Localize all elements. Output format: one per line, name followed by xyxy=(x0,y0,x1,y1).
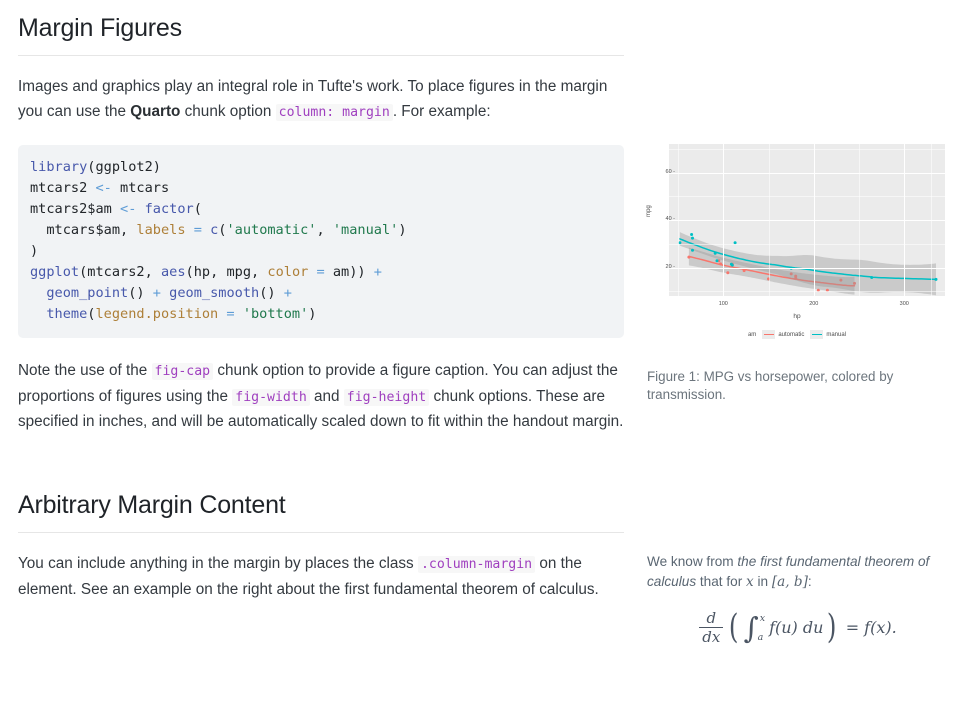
mn-var-x: x xyxy=(746,574,754,590)
y-axis-label: mpg xyxy=(646,205,652,217)
section-arbitrary-margin-content: Arbitrary Margin Content xyxy=(18,490,624,533)
heading-rule-2 xyxy=(18,532,624,533)
code-token: mtcars$am, xyxy=(30,222,136,238)
right-paren-icon: ) xyxy=(827,614,837,641)
note-text-1: Note the use of the xyxy=(18,362,152,379)
code-token: 'automatic' xyxy=(226,222,316,238)
code-token: )) xyxy=(349,264,365,280)
code-token: ( xyxy=(186,264,194,280)
gridline-major-y xyxy=(669,268,945,269)
code-token xyxy=(30,306,46,322)
inline-code-fig-height: fig-height xyxy=(344,389,429,406)
plot-panel xyxy=(669,144,945,296)
code-token: mtcars xyxy=(112,180,169,196)
code-token xyxy=(30,285,46,301)
inline-code-fig-cap: fig-cap xyxy=(152,363,214,380)
derivative-fraction: d dx xyxy=(699,610,723,645)
data-point xyxy=(870,276,873,279)
code-token: mtcars2 xyxy=(30,180,95,196)
code-token: 'manual' xyxy=(333,222,398,238)
note-paragraph: Note the use of the fig-cap chunk option… xyxy=(18,359,624,435)
gridline-major-y xyxy=(669,220,945,221)
data-point xyxy=(714,252,717,255)
equation-ftc: d dx ( ∫ x a f(u) du ) = f(x). xyxy=(647,608,947,645)
gridline-minor-y xyxy=(669,149,945,150)
code-token: = xyxy=(218,306,243,322)
code-token: ( xyxy=(194,201,202,217)
mn-text-3: in xyxy=(754,574,772,589)
legend-title: am xyxy=(748,332,756,338)
integral-lower-limit: a xyxy=(756,632,765,643)
heading-rule xyxy=(18,55,624,56)
section-margin-figures: Margin Figures xyxy=(18,0,624,56)
data-point xyxy=(719,262,722,265)
gridline-major-y xyxy=(669,173,945,174)
code-token: + xyxy=(276,285,292,301)
code-token: geom_smooth xyxy=(169,285,259,301)
code-token: labels xyxy=(136,222,185,238)
page-title-2: Arbitrary Margin Content xyxy=(18,490,624,521)
integrand: f(u) du xyxy=(769,618,823,637)
mn-interval: [a, b] xyxy=(772,574,808,590)
code-token: = xyxy=(186,222,211,238)
data-point xyxy=(726,271,729,274)
data-point xyxy=(691,249,694,252)
integral-upper-limit: x xyxy=(760,613,765,624)
x-tick-label: 300 xyxy=(900,301,909,307)
data-point xyxy=(731,264,734,267)
inline-code-column-margin: column: margin xyxy=(276,104,393,121)
code-token: <- xyxy=(120,201,136,217)
legend-key-automatic-icon xyxy=(762,330,775,339)
code-token: + xyxy=(366,264,382,280)
code-token: am xyxy=(333,264,349,280)
legend-item-manual: manual xyxy=(810,330,846,339)
note-text-3: and xyxy=(310,388,344,405)
integral-group: ∫ x a xyxy=(744,613,768,643)
inline-code-column-margin-class: .column-margin xyxy=(418,556,535,573)
code-token: ) xyxy=(30,243,38,259)
intro-text-2: chunk option xyxy=(180,103,275,120)
figure-caption: Figure 1: MPG vs horsepower, colored by … xyxy=(647,368,947,404)
margin-figure-1: mpg hp 20 -40 -60 - 100200300 am automat… xyxy=(647,0,947,404)
code-token: ) xyxy=(308,306,316,322)
data-point xyxy=(935,278,938,281)
code-token: legend.position xyxy=(95,306,218,322)
margin-note-text: We know from the first fundamental theor… xyxy=(647,552,947,592)
legend-label-automatic: automatic xyxy=(778,332,804,338)
gridline-minor-y xyxy=(669,244,945,245)
body-column: Margin Figures Images and graphics play … xyxy=(18,0,624,602)
arbitrary-paragraph: You can include anything in the margin b… xyxy=(18,552,624,602)
y-tick-label: 60 - xyxy=(666,169,675,175)
data-point xyxy=(691,237,694,240)
mn-text-2: that for xyxy=(696,574,746,589)
y-tick-label: 40 - xyxy=(666,216,675,222)
arb-text-1: You can include anything in the margin b… xyxy=(18,555,418,572)
data-point xyxy=(743,269,746,272)
code-token: = xyxy=(308,264,333,280)
code-block-r: library(ggplot2) mtcars2 <- mtcars mtcar… xyxy=(18,145,624,338)
x-tick-label: 200 xyxy=(809,301,818,307)
code-token: mtcars2$am xyxy=(30,201,120,217)
data-point xyxy=(690,233,693,236)
mn-text-4: : xyxy=(808,574,812,589)
legend-key-manual-icon xyxy=(810,330,823,339)
code-token: ) xyxy=(153,159,161,175)
legend-label-manual: manual xyxy=(826,332,846,338)
page-title: Margin Figures xyxy=(18,13,624,44)
x-tick-label: 100 xyxy=(719,301,728,307)
code-token xyxy=(136,201,144,217)
data-point xyxy=(687,256,690,259)
code-token: 'bottom' xyxy=(243,306,308,322)
fraction-numerator: d xyxy=(704,610,720,627)
intro-text-3: . For example: xyxy=(393,103,491,120)
ggplot-mpg-vs-hp: mpg hp 20 -40 -60 - 100200300 am automat… xyxy=(647,140,947,355)
quarto-bold: Quarto xyxy=(130,103,180,120)
mn-text-1: We know from xyxy=(647,554,737,569)
plot-legend: am automatic manual xyxy=(647,330,947,339)
code-token: () xyxy=(128,285,144,301)
x-axis-label: hp xyxy=(647,313,947,320)
code-token: factor xyxy=(145,201,194,217)
code-token: hp, mpg, xyxy=(194,264,268,280)
code-token: ggplot xyxy=(30,264,79,280)
legend-item-automatic: automatic xyxy=(762,330,804,339)
code-token: theme xyxy=(46,306,87,322)
integral-limits: x a xyxy=(757,613,765,643)
code-token: geom_point xyxy=(46,285,128,301)
gridline-minor-y xyxy=(669,291,945,292)
inline-code-fig-width: fig-width xyxy=(232,389,309,406)
code-token: () xyxy=(259,285,275,301)
margin-column: mpg hp 20 -40 -60 - 100200300 am automat… xyxy=(647,0,947,645)
code-token: <- xyxy=(95,180,111,196)
code-token: ) xyxy=(398,222,406,238)
margin-note-calculus: We know from the first fundamental theor… xyxy=(647,552,947,645)
intro-paragraph: Images and graphics play an integral rol… xyxy=(18,75,624,125)
left-paren-icon: ( xyxy=(729,614,739,641)
code-token: mtcars2, xyxy=(87,264,161,280)
code-token: + xyxy=(145,285,170,301)
code-token: , xyxy=(316,222,332,238)
data-point xyxy=(716,259,719,262)
document-page: Margin Figures Images and graphics play … xyxy=(0,0,965,723)
fraction-denominator: dx xyxy=(699,627,723,645)
code-token: aes xyxy=(161,264,186,280)
code-token: ggplot2 xyxy=(95,159,152,175)
code-token: color xyxy=(267,264,308,280)
equation-rhs: = f(x). xyxy=(846,618,897,637)
gridline-minor-y xyxy=(669,196,945,197)
equation-row: d dx ( ∫ x a f(u) du ) = f(x). xyxy=(697,610,896,645)
y-tick-label: 20 - xyxy=(666,264,675,270)
code-token: library xyxy=(30,159,87,175)
